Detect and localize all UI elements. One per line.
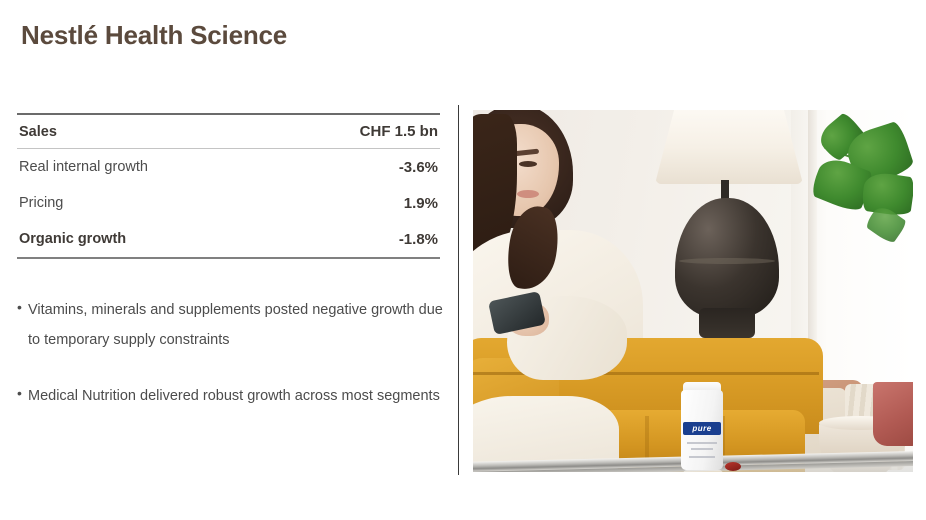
product-brand-label: pure bbox=[683, 422, 721, 435]
bullet-text: Medical Nutrition delivered robust growt… bbox=[28, 381, 440, 411]
table-row: Sales CHF 1.5 bn bbox=[17, 115, 440, 149]
kpi-label: Pricing bbox=[19, 195, 63, 211]
bottle-label-line bbox=[687, 442, 717, 444]
lamp-shade bbox=[655, 110, 803, 184]
photo-scene: pure bbox=[473, 110, 913, 472]
kpi-label: Sales bbox=[19, 124, 57, 140]
kpi-value: -1.8% bbox=[399, 231, 438, 248]
bottle-reflection bbox=[683, 470, 723, 472]
slide: Nestlé Health Science Sales CHF 1.5 bn R… bbox=[0, 0, 926, 520]
table-row: Pricing 1.9% bbox=[17, 185, 440, 221]
bullet-dot-icon: • bbox=[17, 381, 28, 405]
kpi-value: -3.6% bbox=[399, 159, 438, 176]
kpi-value: 1.9% bbox=[404, 195, 438, 212]
red-softgel-capsule bbox=[725, 462, 741, 471]
bottle-label-line bbox=[691, 448, 713, 450]
bottle-label-line bbox=[689, 456, 715, 458]
bullet-text: Vitamins, minerals and supplements poste… bbox=[28, 295, 447, 355]
list-item: • Vitamins, minerals and supplements pos… bbox=[17, 295, 447, 355]
woman-lips bbox=[517, 190, 539, 198]
vertical-divider bbox=[458, 105, 459, 475]
ceramic-cup bbox=[873, 382, 913, 446]
bullet-dot-icon: • bbox=[17, 295, 28, 319]
kpi-label: Organic growth bbox=[19, 231, 126, 247]
page-title: Nestlé Health Science bbox=[21, 20, 287, 51]
lamp-band bbox=[679, 258, 775, 264]
kpi-value: CHF 1.5 bn bbox=[360, 123, 438, 140]
footer: 12 April 25, 2024 Nestlé three-month sal… bbox=[0, 486, 926, 520]
table-row: Real internal growth -3.6% bbox=[17, 149, 440, 185]
kpi-table: Sales CHF 1.5 bn Real internal growth -3… bbox=[17, 113, 440, 259]
woman-eye bbox=[519, 161, 537, 167]
left-content-column: Sales CHF 1.5 bn Real internal growth -3… bbox=[0, 105, 450, 455]
bullet-list: • Vitamins, minerals and supplements pos… bbox=[17, 295, 447, 437]
table-row: Organic growth -1.8% bbox=[17, 221, 440, 257]
lifestyle-photo: pure bbox=[473, 110, 913, 472]
lamp-foot bbox=[699, 308, 755, 338]
list-item: • Medical Nutrition delivered robust gro… bbox=[17, 381, 447, 411]
kpi-label: Real internal growth bbox=[19, 159, 148, 175]
